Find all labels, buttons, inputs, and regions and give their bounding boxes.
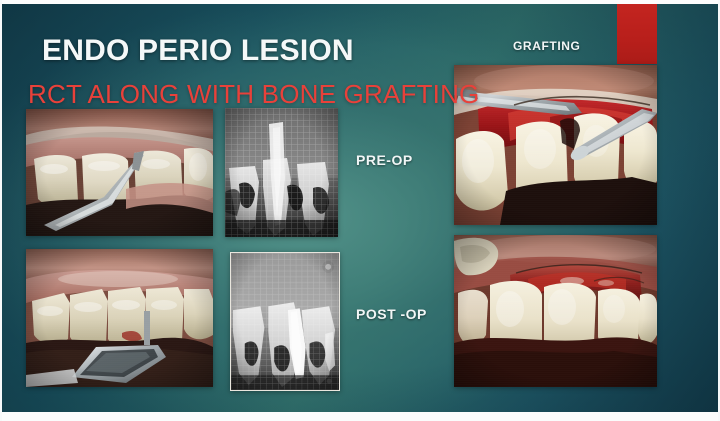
preop-clinical-photo-graphic <box>26 109 213 236</box>
slide-title: ENDO PERIO LESION <box>42 34 354 68</box>
slide-frame-bottom <box>0 412 720 421</box>
preop-radiograph-graphic <box>225 108 338 237</box>
preop-clinical-photo <box>26 109 213 236</box>
grafting-postop-photo-graphic <box>454 235 657 387</box>
label-preop: PRE-OP <box>356 152 413 168</box>
postop-radiograph-graphic <box>231 253 339 390</box>
label-postop: POST -OP <box>356 306 427 322</box>
postop-clinical-photo-graphic <box>26 249 213 387</box>
grafting-postop-photo <box>454 235 657 387</box>
grafting-surgical-photo-graphic <box>454 65 657 225</box>
accent-bar <box>617 3 657 64</box>
postop-radiograph <box>230 252 340 391</box>
slide-canvas: ENDO PERIO LESION RCT ALONG WITH BONE GR… <box>0 0 720 421</box>
label-grafting: GRAFTING <box>513 39 580 53</box>
postop-clinical-photo <box>26 249 213 387</box>
slide-subtitle: RCT ALONG WITH BONE GRAFTING <box>28 79 480 110</box>
slide-background: ENDO PERIO LESION RCT ALONG WITH BONE GR… <box>0 3 720 413</box>
slide-frame-left <box>0 0 2 421</box>
preop-radiograph <box>225 108 338 237</box>
grafting-surgical-photo <box>454 65 657 225</box>
slide-frame-top <box>0 0 720 4</box>
